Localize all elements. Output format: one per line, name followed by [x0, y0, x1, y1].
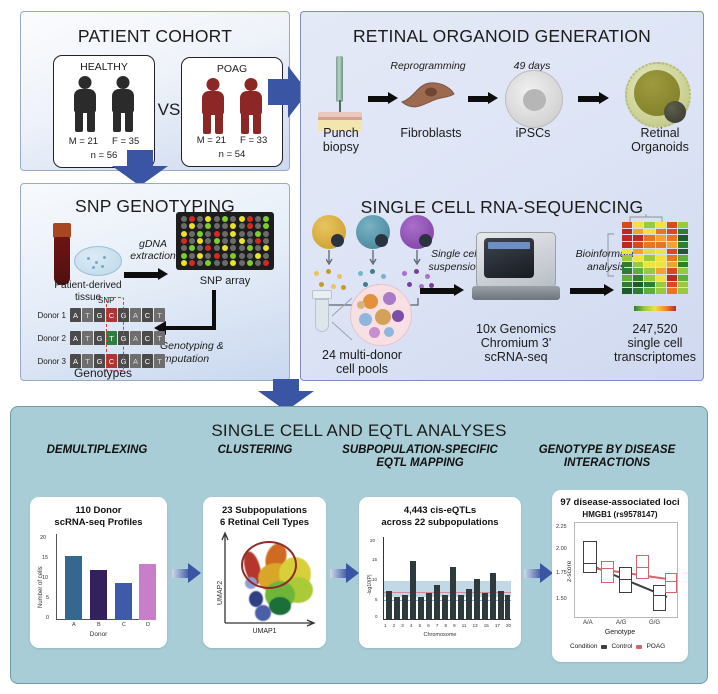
caption-retinal-organoids-line1: Retinal — [620, 126, 700, 140]
snp-array-icon — [176, 212, 274, 270]
label-gdna-extraction: gDNAextraction — [128, 238, 178, 262]
label-genotyping-line1: Genotyping & — [160, 340, 272, 353]
mh-x-tick: 5 — [419, 623, 422, 628]
culture-dish-icon — [74, 246, 122, 276]
genotype-base: T — [82, 331, 93, 345]
umap-scatter-clustering: UMAP1 UMAP2 — [203, 529, 326, 645]
mh-chr-col — [505, 595, 510, 619]
genotype-base: G — [94, 331, 105, 345]
y-tick-0: 0 — [46, 615, 49, 621]
panel-title-retinal-organoid: RETINAL ORGANOID GENERATION — [301, 26, 703, 47]
substep-gxd-line1: GENOTYPE BY DISEASE — [522, 444, 692, 457]
card-clust-line2: 6 Retinal Cell Types — [203, 517, 326, 529]
mh-x-tick: 3 — [401, 623, 404, 628]
genotype-base: A — [70, 308, 81, 322]
manhattan-plot-area — [384, 537, 511, 619]
figure-canvas: PATIENT COHORT HEALTHY M = 21 F = 35 n =… — [0, 0, 718, 694]
genotype-base: T — [154, 308, 165, 322]
caption-retinal-organoids-line2: Organoids — [620, 140, 700, 154]
person-icon-male — [200, 78, 226, 134]
mh-x-tick: 6 — [427, 623, 430, 628]
umap-x-label: UMAP1 — [203, 628, 326, 635]
mh-chr-col — [450, 567, 456, 619]
bp-y-tick-200: 2.00 — [556, 546, 567, 552]
label-genotyping-imputation: Genotyping &Imputation — [160, 340, 272, 366]
mh-x-tick: 13 — [473, 623, 478, 628]
caption-10x-line3: scRNA-seq — [460, 350, 572, 364]
healthy-counts: M = 21 F = 35 — [54, 136, 154, 147]
mh-x-tick: 1 — [384, 623, 387, 628]
fibroblast-icon — [400, 76, 456, 116]
cohort-group-healthy-label: HEALTHY — [54, 61, 154, 73]
genotype-row-label: Donor 2 — [20, 334, 70, 343]
caption-fibroblasts: Fibroblasts — [396, 126, 466, 140]
substep-label-eqtl-mapping: SUBPOPULATION-SPECIFICEQTL MAPPING — [330, 444, 510, 470]
arrow-right-icon-fibroblast-to-ipsc — [468, 92, 498, 104]
manhattan-x-label: Chromosome — [359, 632, 521, 638]
mh-chr-col — [402, 595, 408, 619]
caption-retinal-organoids: RetinalOrganoids — [620, 126, 700, 154]
caption-genotypes: Genotypes — [48, 366, 158, 380]
manhattan-y-label: -log10(P) — [367, 574, 373, 595]
bp-y-tick-150: 1.50 — [556, 596, 567, 602]
caption-cell-pools-line2: cell pools — [300, 362, 424, 376]
mh-chr-col — [442, 595, 448, 619]
median-control-ag — [619, 579, 632, 580]
bp-y-tick-225: 2.25 — [556, 524, 567, 530]
manhattan-plot-eqtl: 20 15 10 5 0 — [359, 533, 521, 645]
x-tick-d: D — [146, 622, 150, 628]
caption-snp-array: SNP array — [180, 274, 270, 288]
mh-chr-col — [498, 591, 504, 619]
arrow-right-icon-tissue-to-array — [124, 268, 170, 280]
boxplot-x-label: Genotype — [552, 629, 688, 636]
pooled-cells-icon — [350, 284, 412, 346]
genotype-row-label: Donor 1 — [20, 311, 70, 320]
mh-x-tick: 8 — [444, 623, 447, 628]
genotype-base: A — [130, 308, 141, 322]
mh-y-tick-0: 0 — [375, 614, 378, 619]
genotype-base: A — [130, 331, 141, 345]
median-poag-aa — [601, 568, 614, 569]
card-clustering: 23 Subpopulations6 Retinal Cell Types UM… — [203, 497, 326, 648]
box-control-ag — [619, 567, 632, 593]
x-tick-b: B — [97, 622, 101, 628]
caption-tissue-line1: Patient-derived — [40, 280, 136, 292]
boxplot-title: HMGB1 (rs9578147) — [552, 510, 688, 519]
arrow-right-icon-biopsy-to-fibroblast — [368, 92, 398, 104]
manhattan-x-axis — [383, 619, 511, 620]
panel-patient-cohort: PATIENT COHORT HEALTHY M = 21 F = 35 n =… — [20, 11, 290, 171]
healthy-female-count: F = 35 — [112, 136, 139, 147]
card-eqtl-line1: 4,443 cis-eQTLs — [359, 505, 521, 517]
umap-highlight-circle — [241, 541, 297, 589]
arrow-right-icon-demux-to-cluster — [172, 563, 200, 583]
caption-punch-biopsy: Punchbiopsy — [306, 126, 376, 154]
manhattan-x-ticks: 1234567891113151720 — [384, 623, 511, 628]
median-poag-ag — [636, 567, 649, 568]
organoid-pool-icon-3 — [400, 215, 434, 249]
mh-x-tick: 15 — [484, 623, 489, 628]
caption-cell-pools-line1: 24 multi-donor — [300, 348, 424, 362]
mh-y-tick-5: 5 — [375, 597, 378, 602]
boxplot-legend: Condition Control POAG — [570, 643, 665, 650]
genotype-row-donor-2: Donor 2 ATGTGACT — [20, 330, 165, 346]
genotype-base: C — [142, 308, 153, 322]
y-tick-20: 20 — [40, 535, 46, 541]
caption-10x-line1: 10x Genomics — [460, 322, 572, 336]
healthy-person-icons — [54, 76, 154, 134]
mh-x-tick: 17 — [495, 623, 500, 628]
legend-swatch-poag — [636, 645, 642, 649]
arrow-right-icon-ipsc-to-organoid — [578, 92, 610, 104]
median-poag-gg — [665, 581, 677, 582]
poag-person-icons — [182, 78, 282, 136]
heatmap-color-scale — [634, 306, 676, 311]
median-control-aa — [583, 563, 597, 564]
organoid-pool-icon-2 — [356, 215, 390, 249]
bp-x-tick-aa: A/A — [583, 620, 593, 626]
genotype-base: T — [82, 308, 93, 322]
substep-gxd-line2: INTERACTIONS — [522, 457, 692, 470]
genotype-row-label: Donor 3 — [20, 357, 70, 366]
card-title-eqtl: 4,443 cis-eQTLsacross 22 subpopulations — [359, 505, 521, 528]
card-demux-line2: scRNA-seq Profiles — [30, 517, 167, 529]
caption-cell-pools: 24 multi-donorcell pools — [300, 348, 424, 376]
arrow-right-icon-pool-to-sequencer — [420, 284, 466, 296]
bar-donor-b — [90, 570, 107, 620]
card-genotype-by-disease: 97 disease-associated loci HMGB1 (rs9578… — [552, 490, 688, 662]
bar-donor-d — [139, 564, 156, 620]
caption-transcriptomes-line3: transcriptomes — [596, 350, 714, 364]
genotype-base: G — [94, 308, 105, 322]
mh-y-tick-20: 20 — [370, 538, 375, 543]
x-tick-a: A — [72, 622, 76, 628]
arrow-down-icon-cohort-to-snp — [112, 150, 168, 186]
card-clust-line1: 23 Subpopulations — [203, 505, 326, 517]
caption-ipscs: iPSCs — [498, 126, 568, 140]
umap-cluster-darkgreen — [269, 597, 291, 615]
mh-chr-col — [458, 595, 464, 619]
mh-chr-col — [426, 593, 432, 619]
organoid-pool-icon-1 — [312, 215, 346, 249]
person-icon-male — [72, 76, 98, 132]
collection-tube-icon — [312, 290, 332, 332]
person-icon-female — [238, 78, 264, 134]
y-tick-5: 5 — [46, 595, 49, 601]
blood-tube-icon — [52, 223, 72, 285]
snp-highlight-box — [106, 297, 124, 371]
card-demux-line1: 110 Donor — [30, 505, 167, 517]
mh-x-tick: 7 — [436, 623, 439, 628]
mh-chr-col — [394, 597, 400, 619]
mh-x-tick: 9 — [453, 623, 456, 628]
mh-chr-col — [474, 579, 480, 619]
genotype-base: A — [70, 331, 81, 345]
mh-chr-col — [434, 585, 440, 619]
arrow-right-icon-cluster-to-eqtl — [330, 563, 358, 583]
versus-label: VS — [155, 100, 183, 120]
median-control-gg — [653, 595, 666, 596]
label-gdna-line1: gDNA — [128, 238, 178, 250]
mh-x-tick: 4 — [410, 623, 413, 628]
caption-punch-biopsy-line1: Punch — [306, 126, 376, 140]
card-title-gxd: 97 disease-associated loci — [552, 497, 688, 509]
legend-swatch-control — [601, 645, 607, 649]
card-eqtl-line2: across 22 subpopulations — [359, 517, 521, 529]
caption-transcriptomes-line1: 247,520 — [596, 322, 714, 336]
punch-biopsy-icon — [316, 56, 364, 134]
umap-y-label: UMAP2 — [217, 581, 224, 605]
healthy-male-count: M = 21 — [69, 136, 98, 147]
mh-chr-col — [386, 591, 392, 619]
label-gdna-line2: extraction — [128, 250, 178, 262]
mh-x-tick: 2 — [393, 623, 396, 628]
caption-10x-genomics: 10x Genomics Chromium 3' scRNA-seq — [460, 322, 572, 364]
mh-x-tick: 20 — [506, 623, 511, 628]
substep-label-genotype-disease: GENOTYPE BY DISEASEINTERACTIONS — [522, 444, 692, 470]
genotype-base: C — [142, 331, 153, 345]
mh-y-tick-15: 15 — [372, 557, 377, 562]
mh-chr-col — [418, 597, 424, 619]
card-title-clustering: 23 Subpopulations6 Retinal Cell Types — [203, 505, 326, 528]
legend-label-control: Control — [611, 643, 632, 650]
genotype-base: T — [154, 331, 165, 345]
umap-cluster-blue — [255, 605, 271, 621]
sequencer-icon — [470, 228, 562, 304]
caption-10x-line2: Chromium 3' — [460, 336, 572, 350]
legend-title: Condition — [570, 643, 597, 650]
poag-counts: M = 21 F = 33 — [182, 135, 282, 146]
boxplot-plot-area — [574, 522, 678, 618]
label-reprogramming: Reprogramming — [378, 60, 478, 72]
panel-title-analyses: SINGLE CELL AND EQTL ANALYSES — [11, 421, 707, 441]
cohort-group-poag-label: POAG — [182, 63, 282, 75]
bp-x-tick-gg: G/G — [649, 620, 660, 626]
y-tick-15: 15 — [42, 555, 48, 561]
expression-heatmap-icon — [622, 222, 688, 294]
substep-label-demultiplexing: DEMULTIPLEXING — [22, 444, 172, 457]
mh-chr-col — [466, 589, 472, 619]
bar-donor-c — [115, 583, 132, 620]
substep-label-clustering: CLUSTERING — [190, 444, 320, 457]
label-genotyping-line2: Imputation — [160, 353, 272, 366]
box-poag-aa — [601, 561, 614, 583]
poag-total-count: n = 54 — [182, 149, 282, 160]
mh-chr-col — [482, 593, 488, 619]
dissociation-arrows-icon — [326, 250, 426, 266]
box-control-aa — [583, 541, 597, 573]
bar-chart-demultiplexing: 20 15 10 5 0 A B C D Donor Number of cel… — [30, 530, 167, 642]
substep-eqtl-line1: SUBPOPULATION-SPECIFIC — [330, 444, 510, 457]
ipsc-icon — [505, 70, 563, 128]
caption-transcriptomes: 247,520 single cell transcriptomes — [596, 322, 714, 364]
boxplot-y-label: z-score — [566, 561, 573, 582]
mh-chr-col — [490, 573, 496, 619]
legend-label-poag: POAG — [646, 643, 665, 650]
bar-chart-y-label: Number of cells — [38, 566, 44, 608]
bp-x-tick-ag: A/G — [616, 620, 626, 626]
arrow-right-icon-eqtl-to-gxd — [524, 563, 552, 583]
card-demultiplexing: 110 DonorscRNA-seq Profiles 20 15 10 5 0… — [30, 497, 167, 648]
retinal-organoid-icon — [625, 62, 691, 128]
person-icon-female — [110, 76, 136, 132]
bar-chart-x-label: Donor — [30, 631, 167, 638]
card-eqtl-mapping: 4,443 cis-eQTLsacross 22 subpopulations … — [359, 497, 521, 648]
poag-male-count: M = 21 — [197, 135, 226, 146]
x-tick-c: C — [122, 622, 126, 628]
substep-eqtl-line2: EQTL MAPPING — [330, 457, 510, 470]
genotype-row-donor-1: Donor 1 ATGCGACT — [20, 307, 165, 323]
poag-female-count: F = 33 — [240, 135, 267, 146]
box-poag-gg — [665, 573, 677, 593]
caption-punch-biopsy-line2: biopsy — [306, 140, 376, 154]
caption-transcriptomes-line2: single cell — [596, 336, 714, 350]
card-title-demultiplexing: 110 DonorscRNA-seq Profiles — [30, 505, 167, 528]
bar-chart-plot-area — [57, 534, 156, 620]
mh-x-tick: 11 — [462, 623, 467, 628]
panel-title-patient-cohort: PATIENT COHORT — [21, 26, 289, 47]
bar-donor-a — [65, 556, 82, 620]
mh-chr-col — [410, 561, 416, 619]
